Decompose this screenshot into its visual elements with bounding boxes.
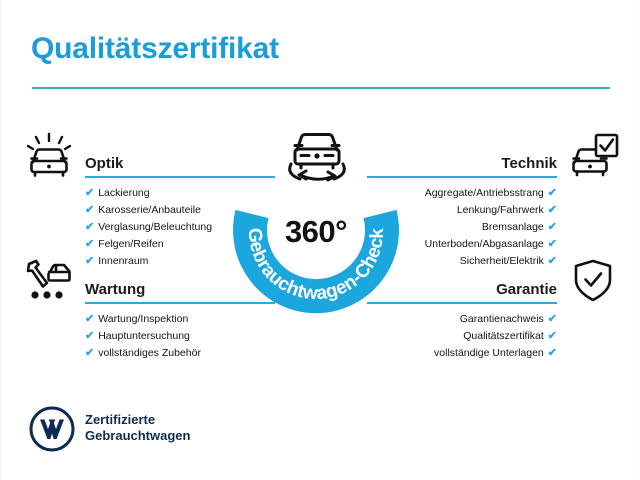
check-icon: ✔: [548, 313, 557, 325]
vw-logo-icon: [29, 406, 75, 452]
check-icon: ✔: [85, 347, 94, 359]
badge-center-label: 360°: [223, 214, 409, 250]
list-item: ✔Hauptuntersuchung: [85, 328, 275, 345]
car-checkbox-icon: [567, 132, 619, 178]
car-shine-icon: [23, 132, 75, 178]
shield-check-icon: [567, 258, 619, 304]
list-item-label: Hauptuntersuchung: [98, 330, 190, 342]
list-item-label: Bremsanlage: [482, 221, 544, 233]
check-icon: ✔: [548, 330, 557, 342]
check-icon: ✔: [548, 238, 557, 250]
title-divider: [32, 87, 610, 89]
wrench-car-icon: [23, 258, 75, 304]
list-item-label: Lackierung: [98, 187, 149, 199]
vw-brand-line1: Zertifizierte: [85, 412, 190, 428]
list-item-label: vollständige Unterlagen: [434, 347, 544, 359]
check-icon: ✔: [85, 187, 94, 199]
list-item: vollständige Unterlagen✔: [367, 345, 557, 362]
360-check-badge: Gebrauchtwagen-Check: [223, 126, 409, 316]
list-item-label: vollständiges Zubehör: [98, 347, 201, 359]
section-title: Optik: [85, 155, 123, 172]
list-item-label: Qualitätszertifikat: [463, 330, 544, 342]
certificate-page: Qualitätszertifikat: [0, 0, 640, 480]
car-rotation-icon: [278, 126, 356, 188]
check-icon: ✔: [85, 221, 94, 233]
list-item-label: Verglasung/Beleuchtung: [98, 221, 212, 233]
check-icon: ✔: [85, 330, 94, 342]
vw-brand-line2: Gebrauchtwagen: [85, 428, 190, 444]
check-icon: ✔: [548, 347, 557, 359]
check-icon: ✔: [548, 221, 557, 233]
page-title: Qualitätszertifikat: [31, 32, 279, 66]
check-icon: ✔: [85, 313, 94, 325]
list-item-label: Garantienachweis: [460, 313, 544, 325]
check-icon: ✔: [85, 238, 94, 250]
check-icon: ✔: [85, 204, 94, 216]
list-item: Qualitätszertifikat✔: [367, 328, 557, 345]
list-item-label: Karosserie/Anbauteile: [98, 204, 201, 216]
section-title: Technik: [501, 155, 557, 172]
list-item-label: Unterboden/Abgasanlage: [425, 238, 544, 250]
list-item-label: Felgen/Reifen: [98, 238, 163, 250]
check-icon: ✔: [548, 204, 557, 216]
list-item-label: Aggregate/Antriebsstrang: [425, 187, 544, 199]
check-icon: ✔: [548, 187, 557, 199]
list-item-label: Wartung/Inspektion: [98, 313, 188, 325]
section-title: Garantie: [496, 281, 557, 298]
section-title: Wartung: [85, 281, 145, 298]
list-item: ✔vollständiges Zubehör: [85, 345, 275, 362]
list-item-label: Lenkung/Fahrwerk: [457, 204, 544, 216]
vw-brand-text: Zertifizierte Gebrauchtwagen: [85, 412, 190, 444]
vw-brand-lockup: Zertifizierte Gebrauchtwagen: [29, 404, 259, 456]
